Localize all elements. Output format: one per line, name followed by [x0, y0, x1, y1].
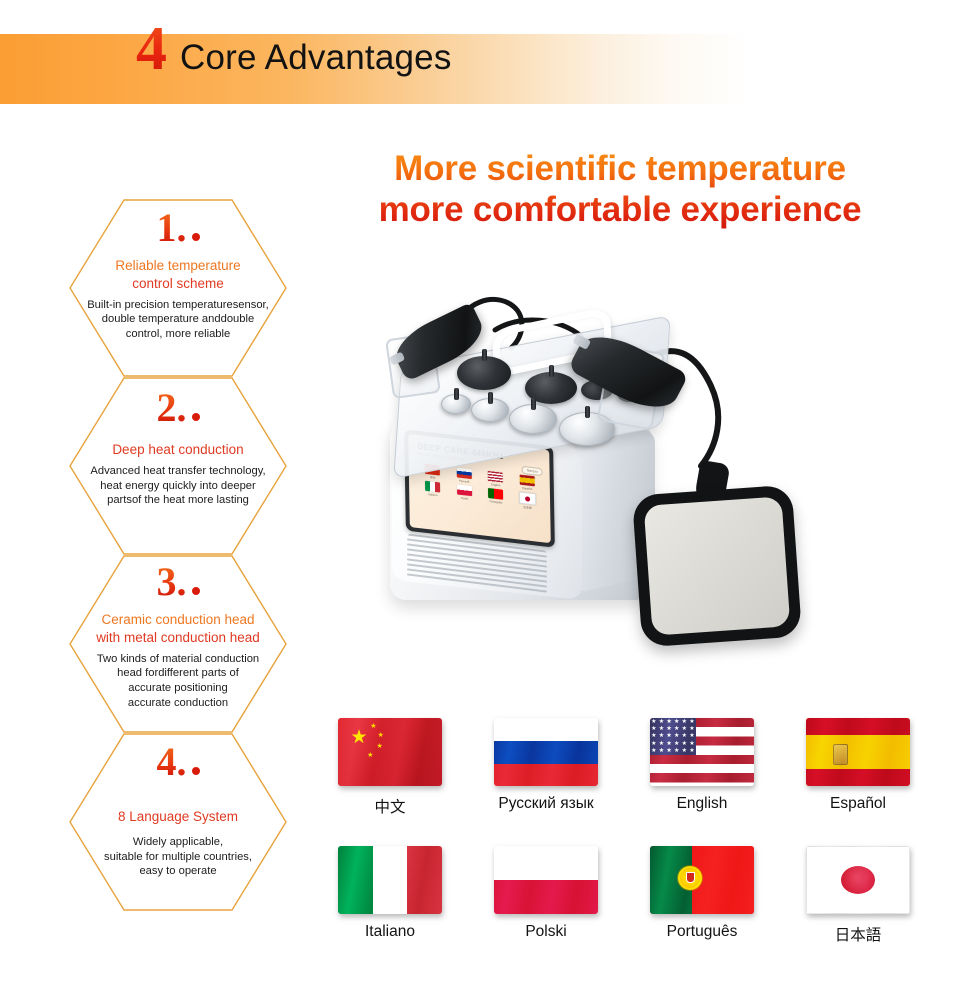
language-label-spanish: Español [830, 795, 886, 813]
advantage-item-4: 4. 8 Language System Widely applicable, … [70, 742, 286, 879]
return-pad [632, 485, 802, 648]
flag-russia-icon [494, 718, 598, 786]
advantage-title-3: Ceramic conduction head with metal condu… [70, 611, 286, 647]
flag-jp-icon [519, 491, 536, 505]
screen-language-jp[interactable]: 日本語 [513, 491, 541, 511]
advantage-dot-1 [192, 233, 200, 241]
advantage-body-3: Two kinds of material conduction head fo… [70, 652, 286, 711]
language-item-portuguese[interactable]: Português [624, 846, 780, 974]
advantage-body-2: Advanced heat transfer technology, heat … [70, 464, 286, 508]
language-label-japanese: 日本語 [835, 923, 882, 945]
language-flag-grid: ★ ★ ★ ★ ★ 中文 Русский язык [312, 718, 936, 974]
language-label-chinese: 中文 [374, 795, 405, 817]
advantage-title-2: Deep heat conduction [70, 441, 286, 459]
electrode-black-large-1 [457, 356, 511, 390]
language-item-spanish[interactable]: Español [780, 718, 936, 846]
screen-language-pl[interactable]: Polski [450, 484, 478, 504]
advantage-number-3: 3. [157, 562, 200, 602]
advantage-dot-3 [192, 587, 200, 595]
flag-es-icon [519, 475, 534, 487]
headline: More scientific temperature more comfort… [300, 148, 940, 231]
advantage-number-4: 4. [157, 742, 200, 782]
flag-japan-icon [806, 846, 910, 914]
advantage-dot-4 [192, 767, 200, 775]
language-label-polish: Polski [525, 923, 566, 941]
advantage-item-3: 3. Ceramic conduction head with metal co… [70, 562, 286, 711]
advantage-number-1: 1. [157, 208, 200, 248]
language-item-english[interactable]: ★★★★★★ ★★★★★★ ★★★★★★ ★★★★★★ ★★★★★★ Engli… [624, 718, 780, 846]
language-item-chinese[interactable]: ★ ★ ★ ★ ★ 中文 [312, 718, 468, 846]
advantages-list: 1. Reliable temperature control scheme B… [0, 196, 340, 912]
page-title: Core Advantages [180, 38, 452, 78]
advantage-item-1: 1. Reliable temperature control scheme B… [70, 208, 286, 342]
flag-us-icon [488, 471, 503, 483]
language-item-russian[interactable]: Русский язык [468, 718, 624, 846]
flag-italy-icon [338, 846, 442, 914]
headline-line-1: More scientific temperature [300, 148, 940, 189]
language-item-italian[interactable]: Italiano [312, 846, 468, 974]
flag-poland-icon [494, 846, 598, 914]
advantage-dot-2 [192, 413, 200, 421]
screen-language-pt[interactable]: Português [482, 487, 510, 507]
electrode-metal-3 [509, 404, 557, 434]
flag-usa-icon: ★★★★★★ ★★★★★★ ★★★★★★ ★★★★★★ ★★★★★★ [650, 718, 754, 786]
language-item-japanese[interactable]: 日本語 [780, 846, 936, 974]
flag-china-icon: ★ ★ ★ ★ ★ [338, 718, 442, 786]
flag-ru-icon [456, 467, 471, 479]
screen-language-en[interactable]: English [482, 470, 510, 488]
language-label-italian: Italiano [365, 923, 415, 941]
advantage-item-2: 2. Deep heat conduction Advanced heat tr… [70, 388, 286, 508]
flag-portugal-icon [650, 846, 754, 914]
header: 4 Core Advantages [0, 18, 960, 104]
marketing-page: 4 Core Advantages More scientific temper… [0, 0, 960, 981]
flag-pt-icon [488, 488, 503, 500]
flag-pl-icon [457, 484, 472, 496]
advantage-body-4: Widely applicable, suitable for multiple… [70, 835, 286, 879]
screen-language-es[interactable]: Español [513, 474, 541, 492]
advantage-title-4: 8 Language System [70, 808, 286, 826]
flag-spain-icon [806, 718, 910, 786]
screen-language-ru[interactable]: Русский [450, 467, 478, 485]
language-label-portuguese: Português [667, 923, 738, 941]
language-label-english: English [677, 795, 728, 813]
return-pad-plate [644, 496, 791, 635]
header-number: 4 [136, 18, 166, 80]
advantage-number-2: 2. [157, 388, 200, 428]
language-label-russian: Русский язык [498, 795, 593, 813]
language-item-polish[interactable]: Polski [468, 846, 624, 974]
advantage-body-1: Built-in precision temperaturesensor, do… [70, 298, 286, 342]
product-device-image: DEEP CARE 448KHz Please Select Language … [345, 290, 955, 690]
electrode-metal-2 [471, 398, 509, 422]
headline-line-2: more comfortable experience [300, 189, 940, 230]
advantage-title-1: Reliable temperature control scheme [70, 257, 286, 293]
electrode-metal-1 [441, 394, 471, 414]
screen-language-it[interactable]: Italiano [419, 480, 447, 500]
flag-it-icon [425, 481, 440, 493]
